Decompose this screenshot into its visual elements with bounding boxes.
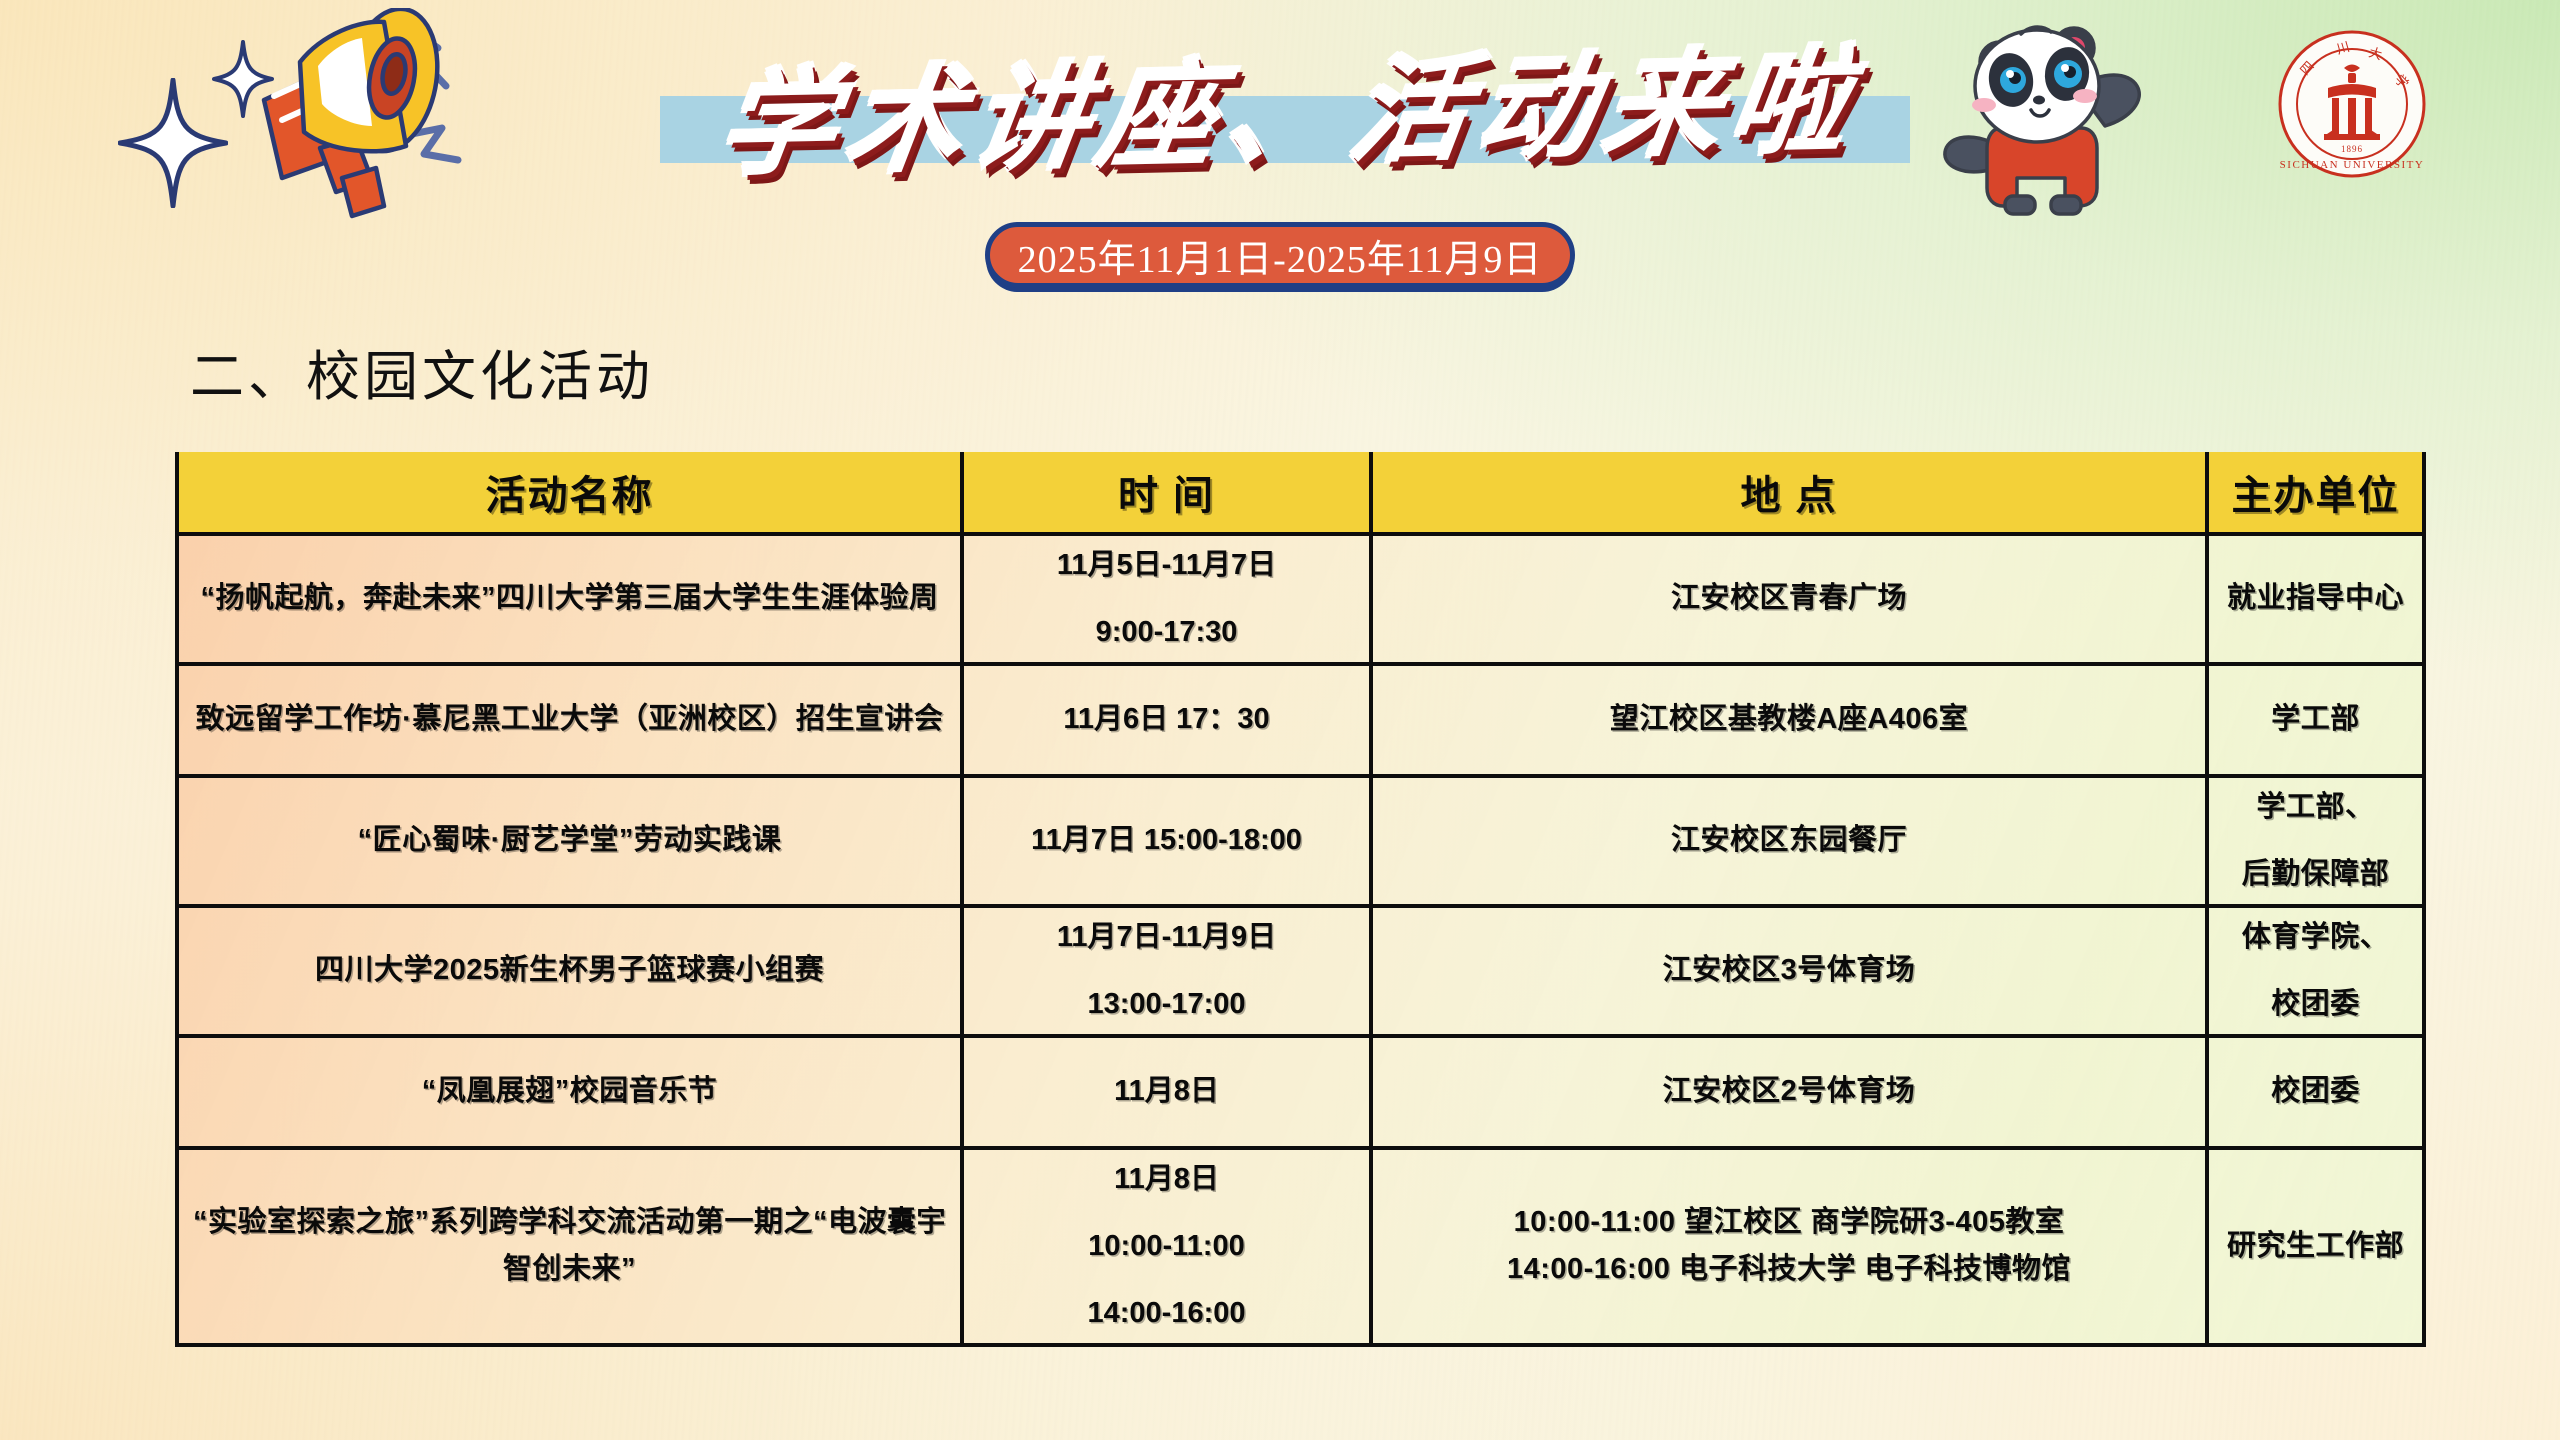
cell-line: 11月8日 — [976, 1156, 1357, 1203]
table-row: 四川大学2025新生杯男子篮球赛小组赛11月7日-11月9日13:00-17:0… — [177, 906, 2424, 1036]
cell-organizer: 学工部 — [2207, 664, 2424, 776]
cell-place: 10:00-11:00 望江校区 商学院研3-405教室14:00-16:00 … — [1371, 1148, 2207, 1345]
cell-time: 11月8日 — [962, 1036, 1371, 1148]
cell-place: 江安校区3号体育场 — [1371, 906, 2207, 1036]
cell-organizer: 校团委 — [2207, 1036, 2424, 1148]
cell-line: 校团委 — [2221, 1068, 2410, 1115]
cell-activity-name: “实验室探索之旅”系列跨学科交流活动第一期之“电波囊宇 智创未来” — [177, 1148, 962, 1345]
section-heading: 二、校园文化活动 — [190, 332, 654, 411]
column-header-time: 时 间 — [962, 452, 1371, 534]
cell-line: 学工部、 — [2221, 784, 2410, 831]
table-row: 致远留学工作坊·慕尼黑工业大学（亚洲校区）招生宣讲会11月6日 17：30望江校… — [177, 664, 2424, 776]
panda-mascot-icon — [1905, 10, 2195, 240]
cell-line: 14:00-16:00 电子科技大学 电子科技博物馆 — [1385, 1246, 2193, 1293]
cell-line: 研究生工作部 — [2221, 1223, 2410, 1270]
table-header-row: 活动名称 时 间 地 点 主办单位 — [177, 452, 2424, 534]
cell-activity-name: “匠心蜀味·厨艺学堂”劳动实践课 — [177, 776, 962, 906]
cell-activity-name: 致远留学工作坊·慕尼黑工业大学（亚洲校区）招生宣讲会 — [177, 664, 962, 776]
cell-line: “实验室探索之旅”系列跨学科交流活动第一期之“电波囊宇 智创未来” — [191, 1199, 948, 1293]
page-title: 学术讲座、活动来啦 — [648, 15, 1933, 191]
cell-line: 校团委 — [2221, 981, 2410, 1028]
cell-organizer: 就业指导中心 — [2207, 534, 2424, 664]
cell-line: 江安校区东园餐厅 — [1385, 817, 2193, 864]
table-row: “扬帆起航，奔赴未来”四川大学第三届大学生生涯体验周11月5日-11月7日9:0… — [177, 534, 2424, 664]
poster-canvas: 学术讲座、活动来啦 — [0, 0, 2560, 1440]
logo-english-text: SICHUAN UNIVERSITY — [2280, 159, 2425, 171]
cell-line: 10:00-11:00 望江校区 商学院研3-405教室 — [1385, 1199, 2193, 1246]
cell-line: 11月8日 — [976, 1068, 1357, 1115]
cell-line: 11月6日 17：30 — [976, 696, 1357, 743]
cell-organizer: 学工部、后勤保障部 — [2207, 776, 2424, 906]
cell-line: “匠心蜀味·厨艺学堂”劳动实践课 — [191, 817, 948, 864]
cell-line: 10:00-11:00 — [976, 1223, 1357, 1270]
cell-line: 14:00-16:00 — [976, 1290, 1357, 1337]
logo-year-text: 1896 — [2341, 144, 2363, 154]
table-body: “扬帆起航，奔赴未来”四川大学第三届大学生生涯体验周11月5日-11月7日9:0… — [177, 534, 2424, 1345]
table-row: “凤凰展翅”校园音乐节11月8日江安校区2号体育场校团委 — [177, 1036, 2424, 1148]
cell-place: 江安校区2号体育场 — [1371, 1036, 2207, 1148]
cell-activity-name: 四川大学2025新生杯男子篮球赛小组赛 — [177, 906, 962, 1036]
line-gap — [2221, 961, 2410, 981]
line-gap — [976, 1270, 1357, 1290]
cell-line: 后勤保障部 — [2221, 851, 2410, 898]
cell-line: 江安校区青春广场 — [1385, 575, 2193, 622]
cell-line: 江安校区2号体育场 — [1385, 1068, 2193, 1115]
line-gap — [976, 961, 1357, 981]
cell-line: 四川大学2025新生杯男子篮球赛小组赛 — [191, 947, 948, 994]
cell-line: 11月7日 15:00-18:00 — [976, 817, 1357, 864]
cell-time: 11月6日 17：30 — [962, 664, 1371, 776]
megaphone-icon — [170, 8, 560, 238]
column-header-activity-name: 活动名称 — [177, 452, 962, 534]
column-header-place: 地 点 — [1371, 452, 2207, 534]
cell-line: 江安校区3号体育场 — [1385, 947, 2193, 994]
cell-time: 11月5日-11月7日9:00-17:30 — [962, 534, 1371, 664]
cell-activity-name: “扬帆起航，奔赴未来”四川大学第三届大学生生涯体验周 — [177, 534, 962, 664]
line-gap — [2221, 831, 2410, 851]
cell-place: 江安校区东园餐厅 — [1371, 776, 2207, 906]
schedule-table-container: 活动名称 时 间 地 点 主办单位 “扬帆起航，奔赴未来”四川大学第三届大学生生… — [175, 452, 2422, 1347]
table-row: “匠心蜀味·厨艺学堂”劳动实践课11月7日 15:00-18:00江安校区东园餐… — [177, 776, 2424, 906]
cell-line: 13:00-17:00 — [976, 981, 1357, 1028]
cell-line: 学工部 — [2221, 696, 2410, 743]
cell-organizer: 体育学院、校团委 — [2207, 906, 2424, 1036]
cell-organizer: 研究生工作部 — [2207, 1148, 2424, 1345]
cell-place: 望江校区基教楼A座A406室 — [1371, 664, 2207, 776]
cell-activity-name: “凤凰展翅”校园音乐节 — [177, 1036, 962, 1148]
line-gap — [976, 589, 1357, 609]
cell-line: “凤凰展翅”校园音乐节 — [191, 1068, 948, 1115]
cell-line: 就业指导中心 — [2221, 575, 2410, 622]
cell-place: 江安校区青春广场 — [1371, 534, 2207, 664]
table-row: “实验室探索之旅”系列跨学科交流活动第一期之“电波囊宇 智创未来”11月8日10… — [177, 1148, 2424, 1345]
date-range-text: 2025年11月1日-2025年11月9日 — [985, 222, 1575, 288]
cell-line: 致远留学工作坊·慕尼黑工业大学（亚洲校区）招生宣讲会 — [191, 696, 948, 743]
line-gap — [976, 1203, 1357, 1223]
column-header-organizer: 主办单位 — [2207, 452, 2424, 534]
cell-line: 9:00-17:30 — [976, 609, 1357, 656]
cell-line: 11月7日-11月9日 — [976, 914, 1357, 961]
schedule-table: 活动名称 时 间 地 点 主办单位 “扬帆起航，奔赴未来”四川大学第三届大学生生… — [175, 452, 2426, 1347]
cell-time: 11月7日-11月9日13:00-17:00 — [962, 906, 1371, 1036]
cell-line: 体育学院、 — [2221, 914, 2410, 961]
cell-line: “扬帆起航，奔赴未来”四川大学第三届大学生生涯体验周 — [191, 575, 948, 622]
cell-line: 望江校区基教楼A座A406室 — [1385, 696, 2193, 743]
cell-time: 11月8日10:00-11:0014:00-16:00 — [962, 1148, 1371, 1345]
cell-line: 11月5日-11月7日 — [976, 542, 1357, 589]
sichuan-university-logo: 1896 SICHUAN UNIVERSITY 四 川 大 学 — [2276, 28, 2428, 180]
cell-time: 11月7日 15:00-18:00 — [962, 776, 1371, 906]
date-range-badge: 2025年11月1日-2025年11月9日 — [985, 222, 1575, 288]
